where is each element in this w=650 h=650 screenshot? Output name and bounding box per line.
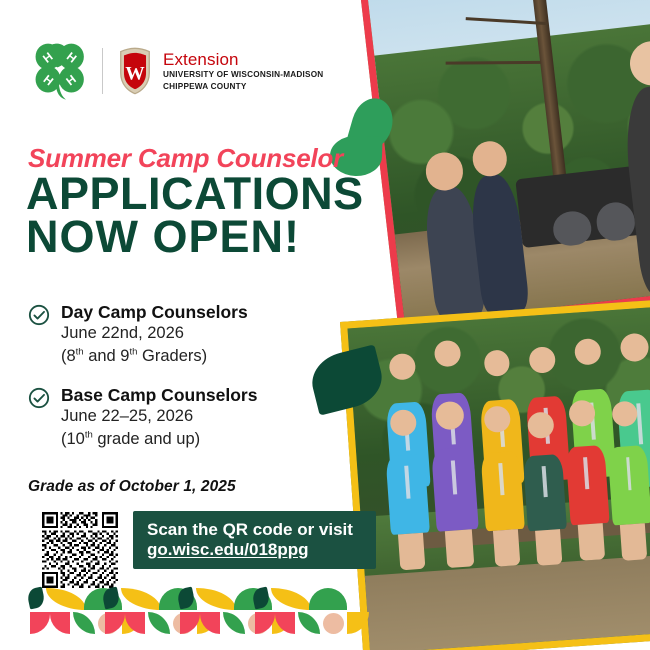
red-petal-right [200,612,220,634]
headline-line1: APPLICATIONS [26,172,364,215]
dark-leaf-shape [101,587,121,610]
list-item: Day Camp Counselors June 22nd, 2026 (8th… [28,302,257,367]
svg-text:W: W [125,63,145,84]
yellow-leaf-shape [46,588,86,610]
university-line: UNIVERSITY OF WISCONSIN-MADISON [163,71,323,79]
floral-border-pattern [28,586,328,638]
yellow-leaf-shape [196,588,236,610]
session-grades: (10th grade and up) [61,429,257,450]
flower-unit [103,586,178,638]
counselor-legs [620,523,647,561]
counselor [565,445,609,526]
yellow-leaf-shape [121,588,161,610]
county-line: CHIPPEWA COUNTY [163,83,323,91]
qr-cta-banner[interactable]: Scan the QR code or visit go.wisc.edu/01… [133,511,376,569]
session-date: June 22–25, 2026 [61,406,257,427]
photo-scene [347,306,650,650]
photo-frame-yellow [340,298,650,650]
grade-note: Grade as of October 1, 2025 [28,478,236,496]
lanyard [541,466,547,498]
red-petal-right [125,612,145,634]
qr-code[interactable] [42,512,118,588]
lanyard [499,463,505,496]
lanyard [626,457,632,490]
counselor [431,447,479,531]
grades-prefix: (10 [61,430,85,448]
photo-scene [366,0,650,324]
flower-unit [28,586,103,638]
session-grades: (8th and 9th Graders) [61,346,248,367]
check-circle-icon [28,387,50,409]
lanyard [451,460,458,494]
four-leaf-clover-4h-logo: H H H H [30,40,90,102]
photo-counselor-group [340,298,650,650]
check-circle-icon [28,304,50,326]
red-petal-right [50,612,70,634]
grades-mid: and 9 [84,347,130,365]
grades-mid: grade and up) [93,430,200,448]
red-petal-right [275,612,295,634]
green-leaf-small [223,612,245,634]
grades-sup-1: th [85,429,93,440]
counselor-legs [398,532,425,570]
counselor-legs [493,529,520,567]
logo-header: H H H H W Extension UNIVERSITY OF WISCON… [30,40,323,102]
lanyard [637,403,644,444]
flower-unit [178,586,253,638]
counselor-legs [577,523,604,561]
lanyard [404,466,410,499]
counselor [480,450,524,531]
session-list: Day Camp Counselors June 22nd, 2026 (8th… [28,302,257,468]
grades-sup-1: th [76,346,84,357]
red-petal-left [30,612,50,634]
logo-divider [102,48,103,94]
lanyard [583,457,589,490]
dark-leaf-shape [26,587,46,610]
uw-extension-logo: W Extension UNIVERSITY OF WISCONSIN-MADI… [115,47,323,95]
flower-unit [253,586,328,638]
dark-leaf-shape [176,587,196,610]
dark-leaf-shape [251,587,271,610]
green-leaf-small [73,612,95,634]
qr-cta-line1: Scan the QR code or visit [147,520,376,540]
uw-madison-crest: W [115,47,155,95]
grades-prefix: (8 [61,347,76,365]
session-title: Base Camp Counselors [61,385,257,405]
list-item: Base Camp Counselors June 22–25, 2026 (1… [28,385,257,450]
red-petal-left [180,612,200,634]
headline-main: APPLICATIONS NOW OPEN! [26,172,364,258]
session-title: Day Camp Counselors [61,302,248,322]
counselor [523,454,567,532]
headline-line2: NOW OPEN! [26,215,364,258]
red-petal-left [255,612,275,634]
counselor [386,454,430,535]
peach-circle [323,613,344,634]
extension-wordmark: Extension [163,51,323,68]
qr-cta-url[interactable]: go.wisc.edu/018ppg [147,540,376,560]
poster-canvas: H H H H W Extension UNIVERSITY OF WISCON… [0,0,650,650]
yellow-leaf-shape [271,588,311,610]
grades-suffix: Graders) [137,347,207,365]
counselor-legs [535,529,562,565]
counselor-legs [444,529,474,568]
green-leaf-small [148,612,170,634]
session-date: June 22nd, 2026 [61,323,248,344]
counselor [607,445,650,526]
green-half-circle [309,588,347,610]
green-leaf-small [298,612,320,634]
red-petal-left [105,612,125,634]
